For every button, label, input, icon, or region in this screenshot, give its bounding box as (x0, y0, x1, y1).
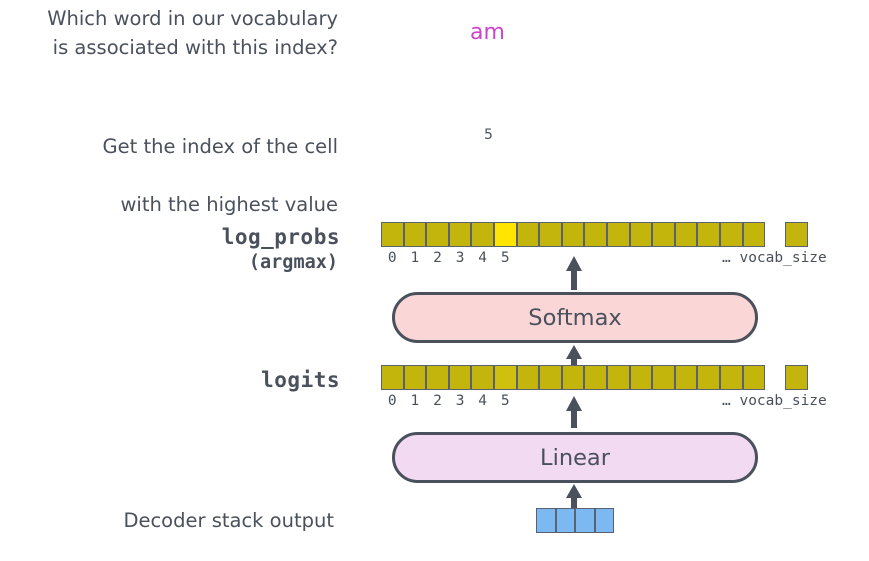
row-label-logits: logits (0, 368, 340, 392)
vector-cell (652, 365, 675, 390)
annotation-vocab-question: Which word in our vocabulary is associat… (0, 4, 338, 62)
vector-cell (539, 222, 562, 247)
vector-cell (720, 222, 743, 247)
vector-cell (517, 365, 540, 390)
vector-cell (697, 222, 720, 247)
vector-cell (426, 222, 449, 247)
vector-cell (720, 365, 743, 390)
vector-cell (743, 222, 766, 247)
vector-cell (404, 222, 427, 247)
decoder-output-cell (595, 508, 615, 533)
vector-tick-label: 3 (449, 393, 472, 409)
row-label-log-probs: log_probs (0, 225, 340, 249)
vector-cell (652, 222, 675, 247)
arrow-linear-to-logits (563, 396, 585, 428)
vector-cell (381, 222, 404, 247)
vector-cell (675, 222, 698, 247)
vector-cell (517, 222, 540, 247)
logits-tail-label: … vocab_size (722, 393, 827, 409)
logits-cells (381, 365, 808, 390)
logits-tick-labels: 012345 (381, 393, 517, 409)
log-probs-cells (381, 222, 808, 247)
vector-tick-label: 5 (494, 393, 517, 409)
vector-cell (630, 222, 653, 247)
vector-tick-label: 3 (449, 250, 472, 266)
vector-ellipsis-gap (765, 222, 785, 247)
vector-cell (607, 222, 630, 247)
block-softmax-label: Softmax (528, 305, 621, 331)
decoder-output-cell (575, 508, 595, 533)
vector-tick-label: 5 (494, 250, 517, 266)
vector-cell-tail (785, 222, 808, 247)
vector-cell (675, 365, 698, 390)
vector-cell-tail (785, 365, 808, 390)
vector-tick-label: 2 (426, 250, 449, 266)
log-probs-tail-label: … vocab_size (722, 250, 827, 266)
decoder-output-cell (556, 508, 576, 533)
vector-cell (630, 365, 653, 390)
vector-cell (471, 222, 494, 247)
vector-cell (584, 222, 607, 247)
annotation-argmax: Get the index of the cell with the highe… (0, 103, 338, 306)
vector-cell (562, 365, 585, 390)
answer-word-value: am (470, 20, 505, 45)
answer-index-value: 5 (484, 127, 493, 143)
vector-cell (449, 365, 472, 390)
row-label-decoder-stack-output: Decoder stack output (0, 509, 334, 532)
log-probs-tick-labels: 012345 (381, 250, 517, 266)
vector-cell (697, 365, 720, 390)
vector-cell (494, 222, 517, 247)
vector-cell (584, 365, 607, 390)
vector-cell (471, 365, 494, 390)
vector-tick-label: 0 (381, 393, 404, 409)
vector-cell (494, 365, 517, 390)
vector-tick-label: 1 (404, 393, 427, 409)
vector-log-probs: 012345 … vocab_size (381, 222, 761, 249)
vector-tick-label: 1 (404, 250, 427, 266)
decoder-output-cell (536, 508, 556, 533)
vector-tick-label: 2 (426, 393, 449, 409)
annotation-argmax-code: (argmax) (0, 248, 338, 277)
annotation-argmax-line1: Get the index of the cell (0, 132, 338, 161)
vector-cell (607, 365, 630, 390)
vector-cell (426, 365, 449, 390)
vector-decoder-output (536, 508, 614, 533)
block-linear[interactable]: Linear (392, 432, 758, 483)
vector-cell (404, 365, 427, 390)
vector-tick-label: 0 (381, 250, 404, 266)
annotation-argmax-line2: with the highest value (0, 190, 338, 219)
arrow-softmax-to-log-probs (563, 256, 585, 290)
vector-cell (539, 365, 562, 390)
vector-cell (449, 222, 472, 247)
vector-cell (743, 365, 766, 390)
block-softmax[interactable]: Softmax (392, 292, 758, 343)
vector-tick-label: 4 (471, 393, 494, 409)
vector-ellipsis-gap (765, 365, 785, 390)
vector-logits: 012345 … vocab_size (381, 365, 761, 392)
block-linear-label: Linear (540, 445, 610, 471)
vector-cell (381, 365, 404, 390)
vector-cell (562, 222, 585, 247)
diagram-canvas: Which word in our vocabulary is associat… (0, 0, 869, 561)
vector-tick-label: 4 (471, 250, 494, 266)
